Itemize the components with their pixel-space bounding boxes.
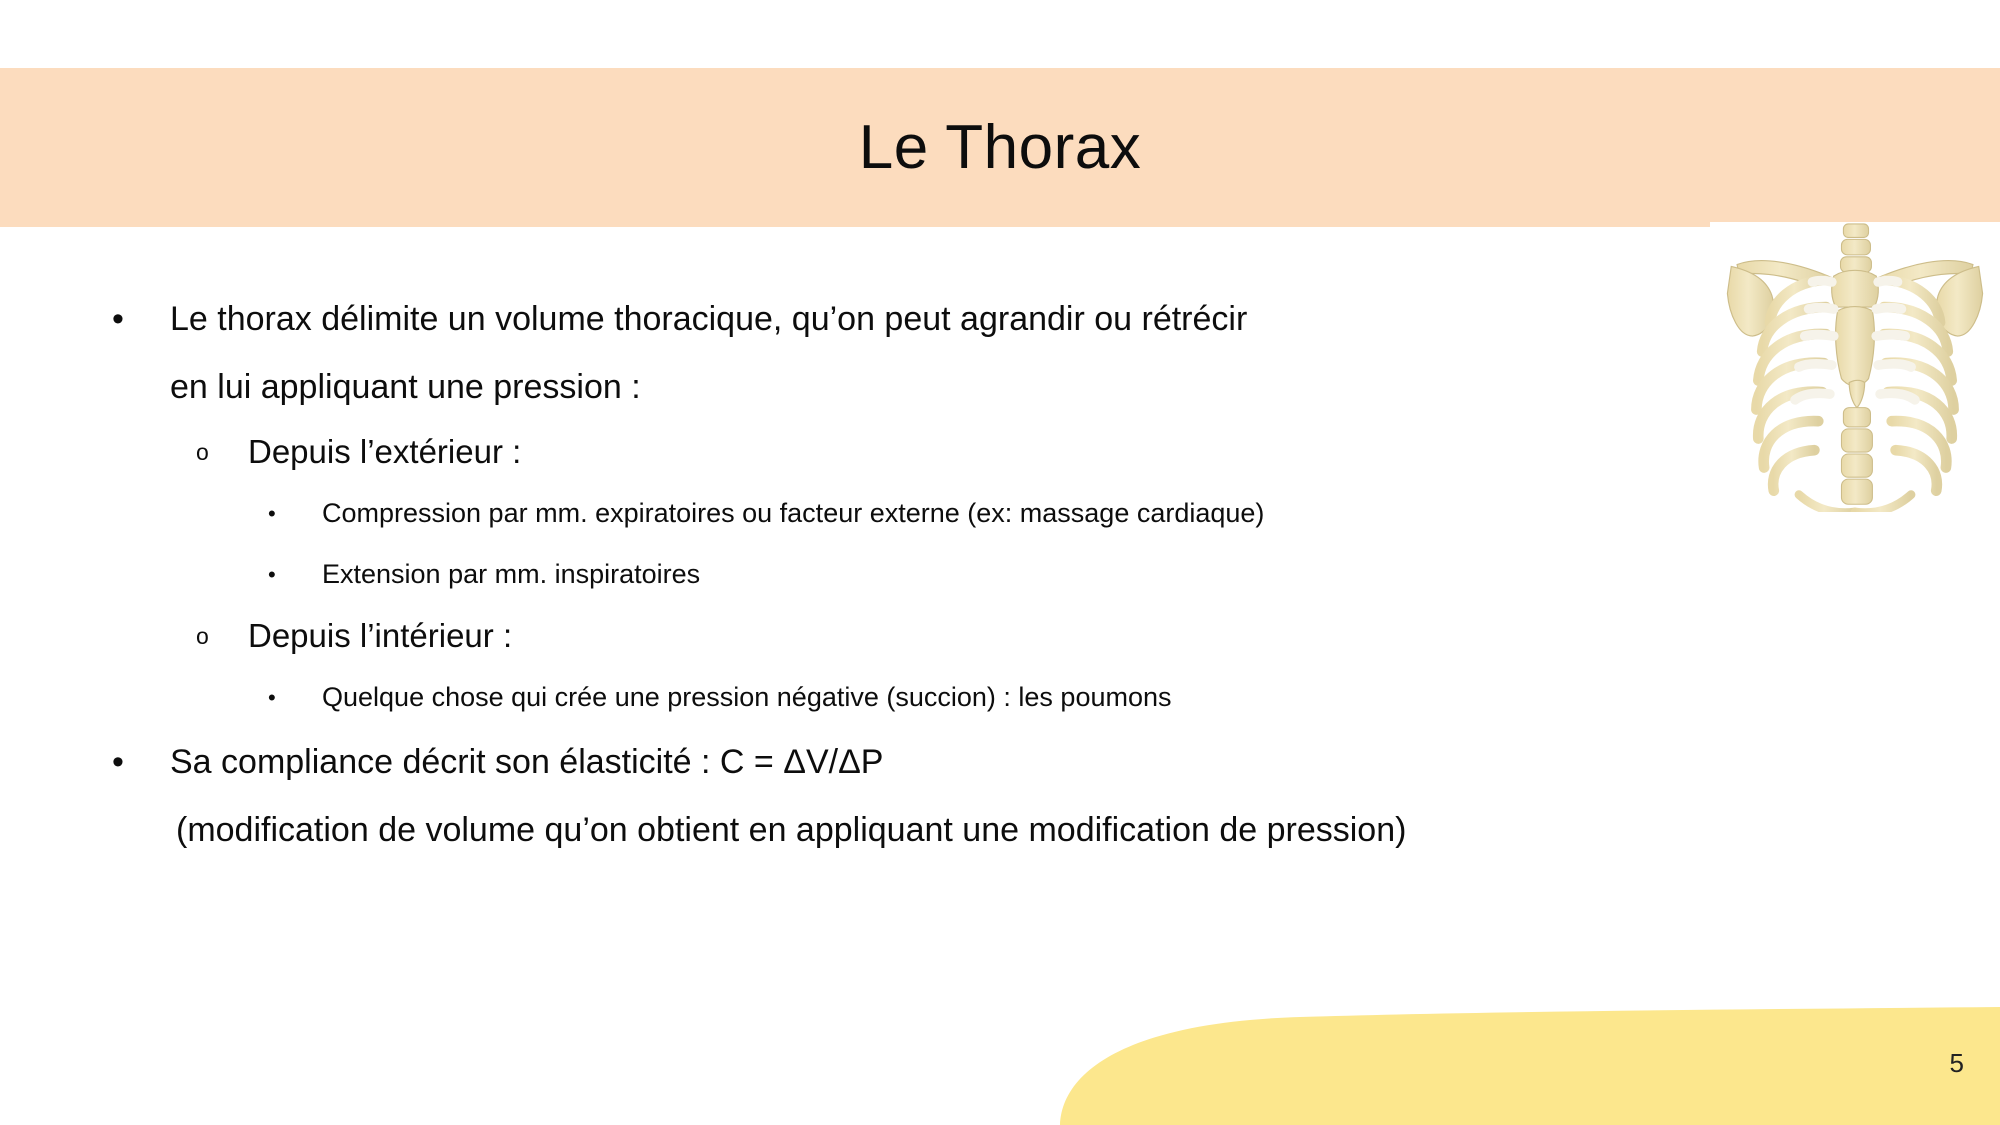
bullet-text: Sa compliance décrit son élasticité : C … <box>170 743 883 781</box>
sub-sub-bullet-text: Compression par mm. expiratoires ou fact… <box>322 498 1264 528</box>
bullet-continuation: (modification de volume qu’on obtient en… <box>0 796 1760 864</box>
bullet-text: (modification de volume qu’on obtient en… <box>176 811 1406 849</box>
content-body: • Le thorax délimite un volume thoraciqu… <box>0 285 1760 864</box>
sub-bullet-item: o Depuis l’extérieur : <box>0 421 1760 483</box>
bullet-item: • Le thorax délimite un volume thoraciqu… <box>0 285 1760 353</box>
bullet-marker-level2: o <box>196 605 209 667</box>
slide: Le Thorax <box>0 0 2000 1125</box>
sub-sub-bullet-item: • Extension par mm. inspiratoires <box>0 544 1760 605</box>
bullet-item: • Sa compliance décrit son élasticité : … <box>0 728 1760 796</box>
bullet-marker-level3: • <box>268 544 276 605</box>
bullet-marker-level3: • <box>268 483 276 544</box>
sub-sub-bullet-item: • Quelque chose qui crée une pression né… <box>0 667 1760 728</box>
page-number: 5 <box>1904 1048 1964 1078</box>
bullet-continuation: en lui appliquant une pression : <box>0 353 1760 421</box>
page-title: Le Thorax <box>0 68 2000 227</box>
sub-sub-bullet-text: Extension par mm. inspiratoires <box>322 559 700 589</box>
decorative-swoosh <box>1000 990 2000 1125</box>
sub-bullet-text: Depuis l’intérieur : <box>248 617 512 654</box>
sub-sub-bullet-text: Quelque chose qui crée une pression néga… <box>322 682 1172 712</box>
bullet-marker-level3: • <box>268 667 276 728</box>
bullet-text: en lui appliquant une pression : <box>170 368 641 406</box>
bullet-text: Le thorax délimite un volume thoracique,… <box>170 300 1247 338</box>
sub-sub-bullet-item: • Compression par mm. expiratoires ou fa… <box>0 483 1760 544</box>
bullet-marker-level1: • <box>112 285 124 353</box>
sub-bullet-item: o Depuis l’intérieur : <box>0 605 1760 667</box>
bullet-marker-level1: • <box>112 728 124 796</box>
sub-bullet-text: Depuis l’extérieur : <box>248 433 521 470</box>
bullet-marker-level2: o <box>196 421 209 483</box>
